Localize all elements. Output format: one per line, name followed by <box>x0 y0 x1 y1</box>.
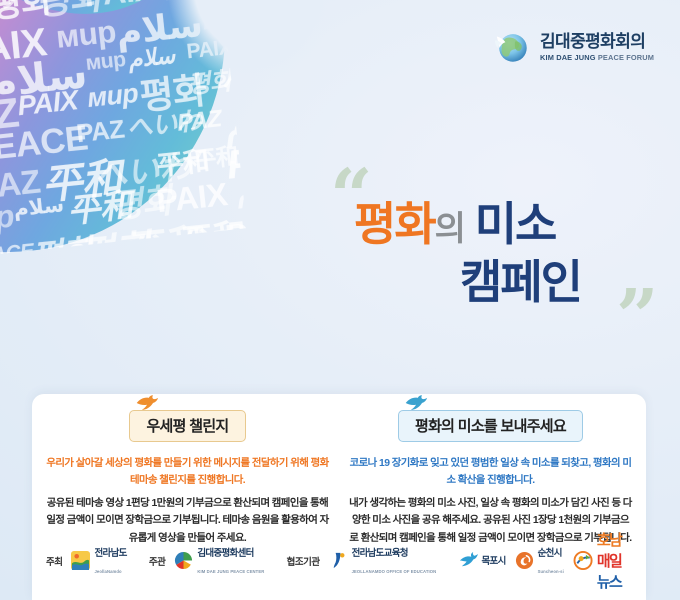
label-host: 주최 <box>46 554 62 568</box>
jeonnam-education-logo-icon <box>329 551 348 570</box>
dove-word: سلام <box>223 98 247 144</box>
smile-lead-text: 코로나 19 장기화로 잊고 있던 평범한 일상 속 미소를 되찾고, 평화의 … <box>349 456 632 490</box>
hero-word-campaign: 캠페인 <box>460 256 581 308</box>
honam-maeil-news-logo-icon <box>573 551 595 570</box>
honam-text-2: 매일 <box>597 553 621 570</box>
suncheon-city-logo-icon <box>515 551 534 570</box>
mokpo-name-ko: 목포시 <box>482 556 506 567</box>
org-name-english: KIM DAE JUNG PEACE FORUM <box>540 54 654 62</box>
org-name-en-bold: KIM DAE JUNG <box>540 53 596 62</box>
hero-particle: 의 <box>435 210 464 248</box>
bird-icon-orange <box>135 395 159 411</box>
org-name-en-light: PEACE FORUM <box>598 53 654 62</box>
label-cooperation: 협조기관 <box>287 554 320 568</box>
dove-word: 平和 <box>180 220 247 260</box>
dove-word: PAIX <box>155 178 229 218</box>
logo-kdj-peace-center: 김대중평화센터 KIM DAE JUNG PEACE CENTER <box>174 544 264 577</box>
mokpo-name: 목포시 <box>482 552 506 569</box>
content-columns: 우세평 챌린지 우리가 살아갈 세상의 평화를 만들기 위한 메시지를 전달하기… <box>32 394 646 547</box>
poster-root: 평화平和へいわPEACE平和PEACEへいわPEACE평화PAIXмupPAZP… <box>0 0 680 600</box>
challenge-heading: 우세평 챌린지 <box>129 410 245 442</box>
dove-word: PAZ <box>225 138 247 186</box>
kdj-name: 김대중평화센터 KIM DAE JUNG PEACE CENTER <box>197 544 264 577</box>
hero-title-line-1: 평화의 미소 <box>354 188 555 254</box>
hero-word-peace: 평화 <box>354 198 435 250</box>
org-name-korean: 김대중평화회의 <box>540 33 654 51</box>
logo-suncheon-city: 순천시 Suncheon-si <box>515 544 564 577</box>
suncheon-name-en: Suncheon-si <box>538 569 564 574</box>
globe-dove-icon <box>493 28 531 66</box>
challenge-lead-text: 우리가 살아갈 세상의 평화를 만들기 위한 메시지를 전달하기 위해 평화 테… <box>46 456 329 490</box>
logo-mokpo-city: 목포시 <box>459 551 506 570</box>
content-panel: 우세평 챌린지 우리가 살아갈 세상의 평화를 만들기 위한 메시지를 전달하기… <box>32 394 646 600</box>
label-organizer: 주관 <box>149 554 165 568</box>
quote-close-mark: ” <box>616 280 659 354</box>
column-challenge: 우세평 챌린지 우리가 살아갈 세상의 평화를 만들기 위한 메시지를 전달하기… <box>36 410 339 547</box>
honam-text-1: 호남 <box>597 532 621 549</box>
mokpo-city-logo-icon <box>459 551 478 570</box>
kdj-name-ko: 김대중평화센터 <box>197 548 253 559</box>
kdj-name-en: KIM DAE JUNG PEACE CENTER <box>197 569 264 574</box>
suncheon-name-ko: 순천시 <box>538 548 562 559</box>
jeonnam-name: 전라남도 JeollaNamdo <box>94 544 126 577</box>
logo-honam-maeil-news: 호남매일뉴스 <box>573 529 632 592</box>
logo-jeonnam-education: 전라남도교육청 JEOLLANAMDO OFFICE OF EDUCATION <box>329 544 437 577</box>
masthead-text: 김대중평화회의 KIM DAE JUNG PEACE FORUM <box>540 33 654 62</box>
hero-title-line-2: 캠페인 <box>460 246 581 312</box>
jeonnam-edu-name-ko: 전라남도교육청 <box>352 548 408 559</box>
smile-heading-group: 평화의 미소를 보내주세요 <box>398 410 583 442</box>
sponsor-footer: 주최 전라남도 JeollaNamdo 주관 <box>32 529 646 592</box>
dove-word: 平和 <box>129 224 210 271</box>
dove-word: 平和 <box>192 144 239 172</box>
logo-jeollanamdo: 전라남도 JeollaNamdo <box>71 544 126 577</box>
peace-dove-artwork: 평화平和へいわPEACE平和PEACEへいわPEACE평화PAIXмupPAZP… <box>0 0 362 404</box>
dove-word: PAIX <box>224 214 247 256</box>
jeonnam-logo-icon <box>71 551 90 570</box>
honam-text-3: 뉴스 <box>597 574 621 591</box>
honam-maeil-news-text: 호남매일뉴스 <box>597 529 632 592</box>
bird-icon-blue <box>404 395 428 411</box>
jeonnam-edu-name: 전라남도교육청 JEOLLANAMDO OFFICE OF EDUCATION <box>352 544 437 577</box>
jeonnam-name-en: JeollaNamdo <box>94 569 121 574</box>
jeonnam-edu-name-en: JEOLLANAMDO OFFICE OF EDUCATION <box>352 569 437 574</box>
hero-word-smile: 미소 <box>475 198 556 250</box>
jeonnam-name-ko: 전라남도 <box>94 548 126 559</box>
dove-word: سلام <box>235 171 246 208</box>
masthead-logo: 김대중평화회의 KIM DAE JUNG PEACE FORUM <box>493 28 654 66</box>
column-smile: 평화의 미소를 보내주세요 코로나 19 장기화로 잊고 있던 평범한 일상 속… <box>339 410 642 547</box>
suncheon-name: 순천시 Suncheon-si <box>538 544 564 577</box>
smile-heading: 평화의 미소를 보내주세요 <box>398 410 583 442</box>
kdj-peace-center-logo-icon <box>174 551 193 570</box>
challenge-heading-group: 우세평 챌린지 <box>129 410 245 442</box>
